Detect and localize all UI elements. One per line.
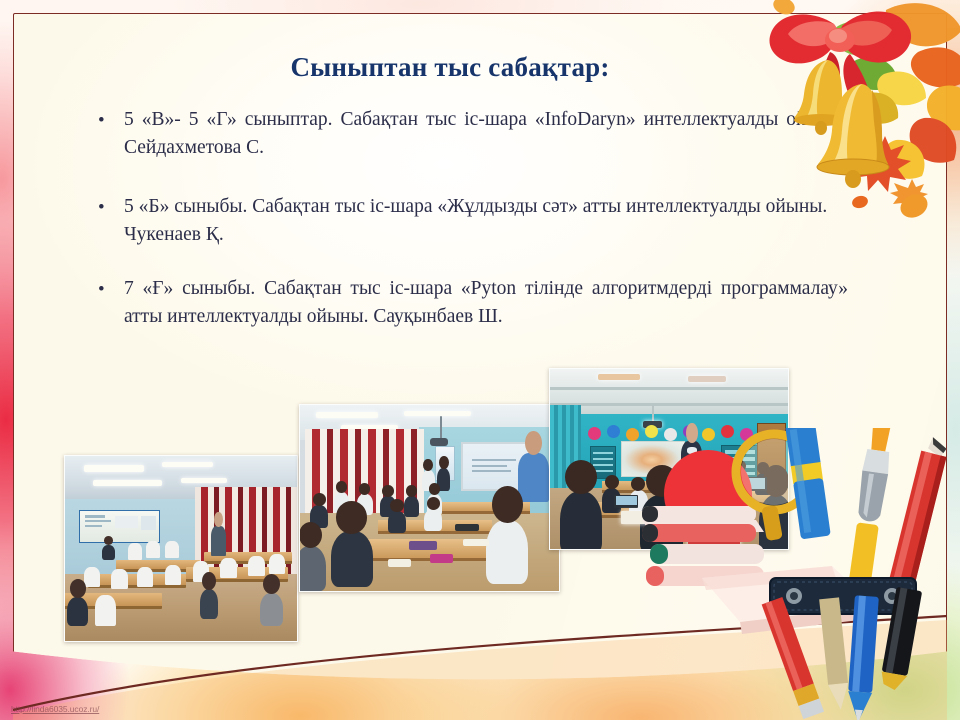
- photo-2-scene: [300, 405, 559, 591]
- presentation-slide: Сыныптан тыс сабақтар: • 5 «В»- 5 «Г» сы…: [0, 0, 960, 720]
- list-item: • 5 «Б» сыныбы. Сабақтан тыс іс-шара «Жұ…: [88, 193, 848, 250]
- source-watermark[interactable]: http://linda6035.ucoz.ru/: [11, 704, 99, 714]
- classroom-photo-2: [299, 404, 560, 592]
- list-item-text: 5 «Б» сыныбы. Сабақтан тыс іс-шара «Жұлд…: [124, 196, 827, 245]
- photo-1-scene: [65, 456, 297, 641]
- page-title: Сыныптан тыс сабақтар:: [0, 52, 900, 83]
- bullet-point-icon: •: [98, 194, 105, 222]
- bullet-point-icon: •: [98, 276, 105, 304]
- bullet-list: • 5 «В»- 5 «Г» сыныптар. Сабақтан тыс іс…: [88, 106, 848, 356]
- classroom-photo-3: [549, 368, 789, 550]
- classroom-photo-1: [64, 455, 298, 642]
- bullet-point-icon: •: [98, 107, 105, 135]
- photo-3-scene: [550, 369, 788, 549]
- list-item: • 5 «В»- 5 «Г» сыныптар. Сабақтан тыс іс…: [88, 106, 848, 163]
- list-item-text: 7 «Ғ» сыныбы. Сабақтан тыс іс-шара «Pyto…: [124, 278, 848, 327]
- list-item: • 7 «Ғ» сыныбы. Сабақтан тыс іс-шара «Py…: [88, 275, 848, 332]
- list-item-text: 5 «В»- 5 «Г» сыныптар. Сабақтан тыс іс-ш…: [124, 109, 848, 158]
